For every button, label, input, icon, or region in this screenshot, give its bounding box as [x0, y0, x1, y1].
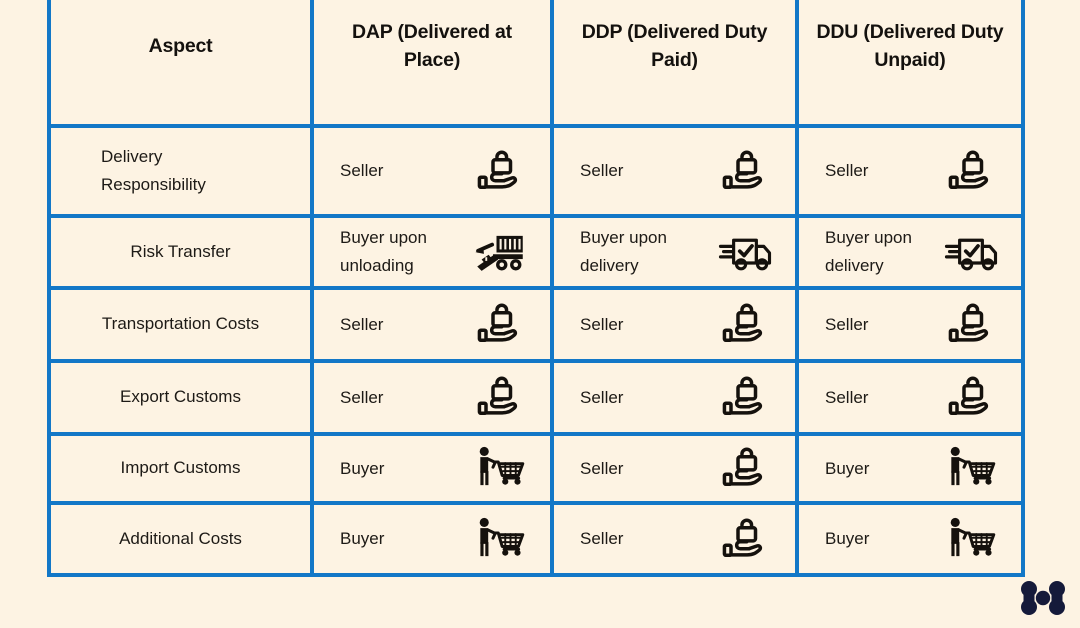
value-cell-ddp: Seller [554, 436, 799, 501]
table-row: Import CustomsBuyerSellerBuyer [51, 436, 1021, 505]
aspect-label: Transportation Costs [102, 310, 259, 338]
delivery-truck-check-icon [717, 226, 773, 278]
value-label: Buyer upon delivery [580, 224, 667, 279]
hand-package-icon [717, 372, 773, 424]
value-label: Seller [580, 384, 623, 412]
value-label: Seller [340, 157, 383, 185]
hand-package-icon [717, 443, 773, 495]
table-row: Risk TransferBuyer upon unloadingBuyer u… [51, 218, 1021, 290]
hand-package-icon [717, 513, 773, 565]
column-header-label: DDP (Delivered Duty Paid) [554, 19, 795, 74]
aspect-cell: Delivery Responsibility [51, 128, 314, 214]
aspect-label: Delivery Responsibility [65, 143, 296, 199]
value-cell-dap: Buyer upon unloading [314, 218, 554, 286]
value-label: Buyer upon unloading [340, 224, 427, 279]
header-cell-dap: DAP (Delivered at Place) [314, 0, 554, 124]
value-cell-ddu: Buyer [799, 436, 1021, 501]
delivery-truck-check-icon [943, 226, 999, 278]
hand-package-icon [472, 299, 528, 351]
header-cell-ddp: DDP (Delivered Duty Paid) [554, 0, 799, 124]
value-label: Seller [580, 525, 623, 553]
table-header-row: Aspect DAP (Delivered at Place) DDP (Del… [51, 0, 1021, 128]
incoterms-comparison-table: Aspect DAP (Delivered at Place) DDP (Del… [47, 0, 1025, 577]
value-label: Seller [580, 311, 623, 339]
value-label: Buyer [825, 525, 869, 553]
aspect-label: Additional Costs [119, 525, 242, 553]
header-cell-ddu: DDU (Delivered Duty Unpaid) [799, 0, 1021, 124]
column-header-label: Aspect [141, 33, 221, 61]
value-cell-dap: Seller [314, 128, 554, 214]
aspect-label: Risk Transfer [130, 238, 230, 266]
shopper-cart-icon [472, 443, 528, 495]
value-cell-ddu: Seller [799, 290, 1021, 359]
shopper-cart-icon [943, 513, 999, 565]
aspect-cell: Risk Transfer [51, 218, 314, 286]
aspect-label: Import Customs [121, 454, 241, 482]
value-cell-ddu: Buyer upon delivery [799, 218, 1021, 286]
value-label: Buyer upon delivery [825, 224, 912, 279]
shopper-cart-icon [472, 513, 528, 565]
column-header-label: DDU (Delivered Duty Unpaid) [799, 19, 1021, 74]
value-cell-ddp: Buyer upon delivery [554, 218, 799, 286]
trailer-unloading-icon [472, 226, 528, 278]
hand-package-icon [717, 145, 773, 197]
value-cell-ddp: Seller [554, 128, 799, 214]
table-row: Delivery ResponsibilitySellerSellerSelle… [51, 128, 1021, 218]
aspect-cell: Import Customs [51, 436, 314, 501]
value-label: Buyer [340, 455, 384, 483]
value-cell-ddu: Seller [799, 128, 1021, 214]
brand-logo [1019, 578, 1067, 618]
hand-package-icon [717, 299, 773, 351]
header-cell-aspect: Aspect [51, 0, 314, 124]
aspect-cell: Transportation Costs [51, 290, 314, 359]
value-label: Buyer [340, 525, 384, 553]
value-label: Seller [825, 157, 868, 185]
value-label: Seller [580, 455, 623, 483]
value-cell-dap: Buyer [314, 505, 554, 573]
shopper-cart-icon [943, 443, 999, 495]
table-row: Transportation CostsSellerSellerSeller [51, 290, 1021, 363]
hand-package-icon [472, 145, 528, 197]
value-cell-ddu: Seller [799, 363, 1021, 432]
hand-package-icon [943, 145, 999, 197]
value-cell-dap: Buyer [314, 436, 554, 501]
value-cell-dap: Seller [314, 290, 554, 359]
value-cell-ddp: Seller [554, 505, 799, 573]
value-cell-ddp: Seller [554, 363, 799, 432]
hand-package-icon [943, 372, 999, 424]
value-cell-ddu: Buyer [799, 505, 1021, 573]
value-label: Seller [340, 384, 383, 412]
value-label: Seller [825, 384, 868, 412]
hand-package-icon [943, 299, 999, 351]
aspect-cell: Export Customs [51, 363, 314, 432]
value-cell-ddp: Seller [554, 290, 799, 359]
aspect-cell: Additional Costs [51, 505, 314, 573]
value-label: Buyer [825, 455, 869, 483]
value-cell-dap: Seller [314, 363, 554, 432]
column-header-label: DAP (Delivered at Place) [314, 19, 550, 74]
value-label: Seller [825, 311, 868, 339]
hand-package-icon [472, 372, 528, 424]
table-row: Export CustomsSellerSellerSeller [51, 363, 1021, 436]
value-label: Seller [580, 157, 623, 185]
table-row: Additional CostsBuyerSellerBuyer [51, 505, 1021, 573]
value-label: Seller [340, 311, 383, 339]
aspect-label: Export Customs [120, 383, 241, 411]
